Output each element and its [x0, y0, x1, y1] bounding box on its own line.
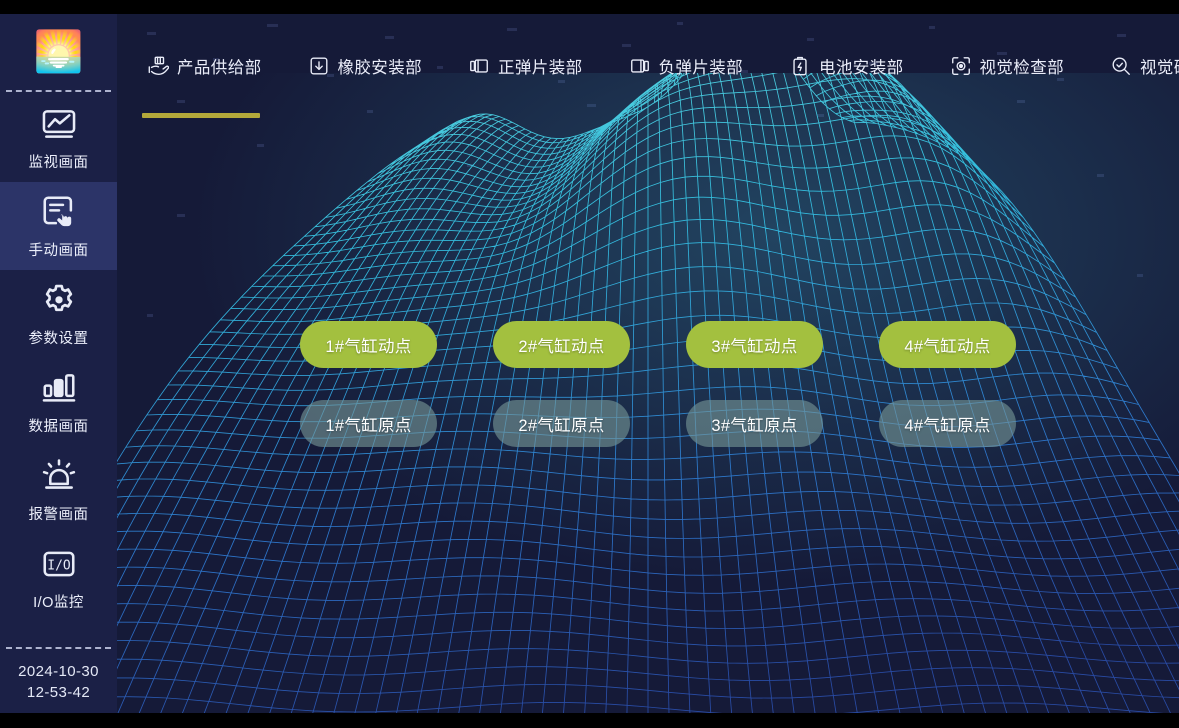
- tab-negative-spring-install[interactable]: 负弹片装部: [622, 14, 761, 118]
- app-logo[interactable]: 🌅: [0, 14, 117, 90]
- tab-label: 视觉检查部: [980, 54, 1065, 78]
- vision-scan-icon: [950, 55, 972, 77]
- svg-text:I/O: I/O: [47, 559, 71, 574]
- tab-battery-install[interactable]: 电池安装部: [782, 14, 921, 118]
- tab-label: 电池安装部: [819, 54, 904, 78]
- tab-label: 正弹片装部: [498, 54, 583, 78]
- top-tab-bar: 产品供给部 橡胶安装部: [117, 14, 1179, 118]
- cylinder-4-origin-button[interactable]: 4#气缸原点: [879, 400, 1016, 447]
- cylinder-button-grid: 1#气缸动点 2#气缸动点 3#气缸动点 4#气缸动点 1#气缸原点 2#气缸原…: [300, 321, 1016, 447]
- sidebar-item-manual[interactable]: 手动画面: [0, 182, 117, 270]
- bar-chart-icon: [39, 368, 79, 408]
- hand-box-icon: [147, 55, 169, 77]
- screen-stage: 产品供给部 橡胶安装部: [0, 14, 1179, 713]
- tab-product-supply[interactable]: 产品供给部: [140, 14, 279, 118]
- cylinder-4-move-button[interactable]: 4#气缸动点: [879, 321, 1016, 368]
- sidebar-item-data[interactable]: 数据画面: [0, 358, 117, 446]
- sidebar-nav: 监视画面 手动画面: [0, 92, 117, 622]
- cylinder-1-origin-button[interactable]: 1#气缸原点: [300, 400, 437, 447]
- sidebar: 🌅 监视画面: [0, 14, 117, 713]
- gear-icon: [39, 280, 79, 320]
- clock-date: 2024-10-30: [0, 661, 117, 682]
- tab-rubber-install[interactable]: 橡胶安装部: [301, 14, 440, 118]
- sidebar-item-label: I/O监控: [33, 591, 84, 612]
- manual-hand-icon: [39, 192, 79, 232]
- sidebar-item-label: 数据画面: [29, 415, 89, 436]
- spring-right-icon: [629, 55, 651, 77]
- tab-label: 负弹片装部: [659, 54, 744, 78]
- sidebar-item-label: 监视画面: [29, 151, 89, 172]
- sidebar-item-monitor[interactable]: 监视画面: [0, 94, 117, 182]
- tab-positive-spring-install[interactable]: 正弹片装部: [461, 14, 600, 118]
- clock: 2024-10-30 12-53-42: [0, 661, 117, 703]
- monitor-chart-icon: [39, 104, 79, 144]
- tab-label: 橡胶安装部: [338, 54, 423, 78]
- tab-vision-confirm[interactable]: 视觉确定: [1103, 14, 1179, 118]
- app-root: 产品供给部 橡胶安装部: [0, 0, 1179, 728]
- alarm-light-icon: [39, 456, 79, 496]
- cylinder-2-origin-button[interactable]: 2#气缸原点: [493, 400, 630, 447]
- cylinder-3-origin-button[interactable]: 3#气缸原点: [686, 400, 823, 447]
- spring-left-icon: [468, 55, 490, 77]
- battery-icon: [789, 55, 811, 77]
- sidebar-item-label: 手动画面: [29, 239, 89, 260]
- download-box-icon: [308, 55, 330, 77]
- cylinder-3-move-button[interactable]: 3#气缸动点: [686, 321, 823, 368]
- tab-label: 产品供给部: [177, 54, 262, 78]
- sunrise-icon: 🌅: [34, 32, 84, 72]
- sidebar-item-label: 参数设置: [29, 327, 89, 348]
- tab-vision-inspection[interactable]: 视觉检查部: [943, 14, 1082, 118]
- sidebar-divider-top: [6, 90, 111, 92]
- cylinder-2-move-button[interactable]: 2#气缸动点: [493, 321, 630, 368]
- cylinder-1-move-button[interactable]: 1#气缸动点: [300, 321, 437, 368]
- sidebar-item-alarm[interactable]: 报警画面: [0, 446, 117, 534]
- sidebar-divider-bottom: [6, 647, 111, 649]
- io-box-icon: I/O: [39, 544, 79, 584]
- sidebar-item-label: 报警画面: [29, 503, 89, 524]
- main-panel: 产品供给部 橡胶安装部: [117, 14, 1179, 713]
- tab-label: 视觉确定: [1140, 54, 1179, 78]
- sidebar-item-io-monitor[interactable]: I/O I/O监控: [0, 534, 117, 622]
- sidebar-item-parameters[interactable]: 参数设置: [0, 270, 117, 358]
- clock-time: 12-53-42: [0, 682, 117, 703]
- magnifier-check-icon: [1110, 55, 1132, 77]
